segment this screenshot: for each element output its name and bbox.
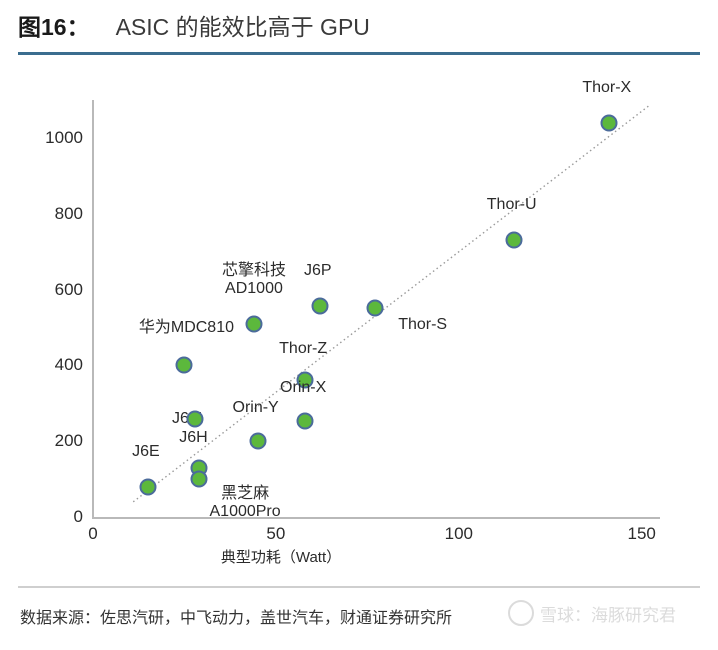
y-tick-label: 200 (27, 431, 83, 451)
watermark: 雪球：海豚研究君 (508, 600, 676, 626)
data-point-marker[interactable] (176, 357, 193, 374)
data-point-marker[interactable] (297, 412, 314, 429)
data-point-label: 华为MDC810 (139, 319, 234, 337)
data-point-label: J6H (179, 429, 207, 447)
data-point-label: Thor-S (398, 316, 447, 334)
data-point-label: Thor-X (582, 79, 631, 97)
data-point-label: Thor-Z (279, 340, 327, 358)
footer-divider (18, 586, 700, 588)
trendline (0, 56, 718, 576)
x-tick-label: 0 (88, 524, 97, 544)
x-tick-label: 100 (445, 524, 473, 544)
data-point-marker[interactable] (311, 298, 328, 315)
data-point-marker[interactable] (366, 299, 383, 316)
source-note: 数据来源：佐思汽研，中飞动力，盖世汽车，财通证券研究所 (20, 604, 452, 628)
data-point-label: J6P (304, 262, 332, 280)
watermark-text: 雪球：海豚研究君 (540, 601, 676, 626)
figure-number: 图16： (18, 8, 90, 42)
y-tick-label: 800 (27, 204, 83, 224)
y-tick-label: 0 (27, 507, 83, 527)
header-divider (18, 52, 700, 55)
y-tick-label: 600 (27, 280, 83, 300)
page-title: 图16： ASIC 的能效比高于 GPU (18, 8, 370, 42)
data-point-label: 芯擎科技 AD1000 (222, 262, 286, 299)
figure-title-text: ASIC 的能效比高于 GPU (116, 8, 370, 42)
data-point-marker[interactable] (505, 232, 522, 249)
data-point-label: 黑芝麻 A1000Pro (209, 485, 280, 522)
data-point-label: Orin-X (280, 379, 326, 397)
data-point-marker[interactable] (139, 478, 156, 495)
x-tick-label: 150 (628, 524, 656, 544)
y-axis-line (92, 100, 94, 519)
y-tick-label: 400 (27, 355, 83, 375)
data-point-marker[interactable] (187, 411, 204, 428)
figure-header: 图16： ASIC 的能效比高于 GPU (0, 0, 718, 56)
data-point-marker[interactable] (191, 471, 208, 488)
circle-logo-icon (508, 600, 534, 626)
data-point-marker[interactable] (249, 433, 266, 450)
x-axis-line (92, 517, 660, 519)
figure-page: 图16： ASIC 的能效比高于 GPU 算力（Tops） 典型功耗（Watt）… (0, 0, 718, 650)
x-tick-label: 50 (266, 524, 285, 544)
y-tick-label: 1000 (27, 128, 83, 148)
data-point-label: J6E (132, 443, 160, 461)
data-point-label: Thor-U (487, 196, 537, 214)
scatter-chart: 算力（Tops） 典型功耗（Watt） 02004006008001000 05… (0, 56, 718, 576)
data-point-marker[interactable] (600, 114, 617, 131)
data-point-label: Orin-Y (232, 399, 278, 417)
x-axis-title: 典型功耗（Watt） (221, 546, 341, 567)
data-point-marker[interactable] (245, 315, 262, 332)
